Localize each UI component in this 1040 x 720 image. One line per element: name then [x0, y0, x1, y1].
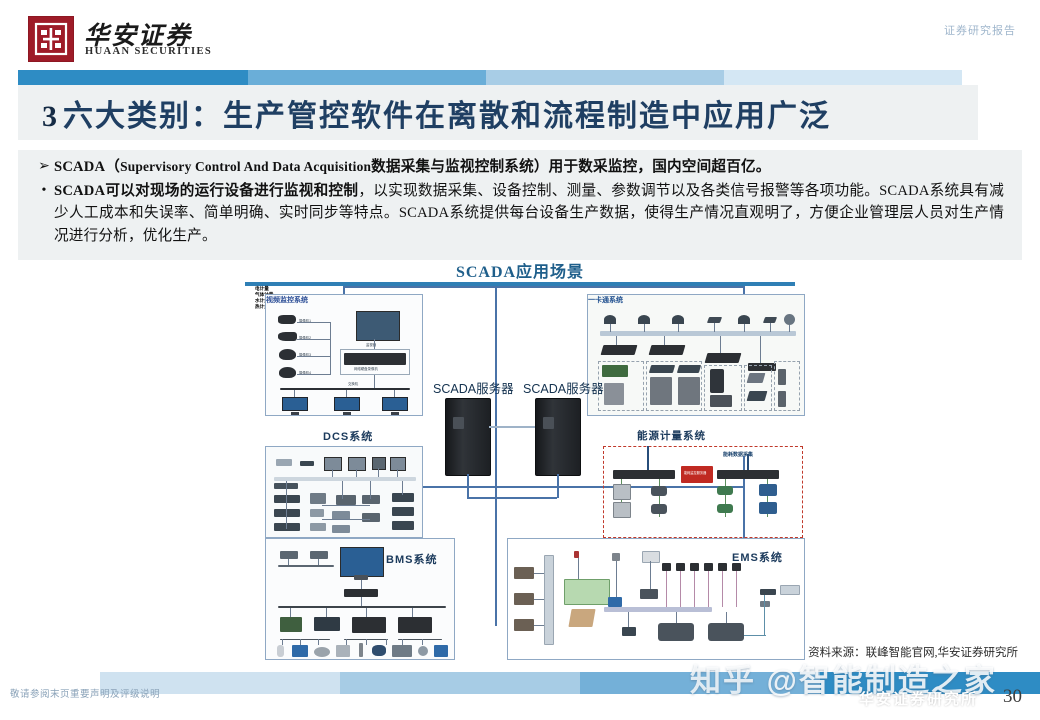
node-bms-system: BMS系统	[265, 538, 455, 660]
node-dcs-system	[265, 446, 423, 538]
footer-band-2	[340, 672, 580, 694]
node-energy-title: 能源计量系统	[637, 428, 706, 443]
node-card-system: 一卡通系统	[587, 294, 805, 416]
title-label: 六大类别：生产管控软件在离散和流程制造中应用广泛	[63, 100, 831, 133]
energy-concentrator-2	[717, 470, 779, 479]
connector-server-join	[467, 497, 557, 499]
footer-disclaimer: 敬请参阅末页重要声明及评级说明	[10, 686, 160, 700]
dome-camera-icon-3	[279, 349, 296, 360]
bullet-marker-1: ➢	[34, 156, 54, 179]
connector-server-link	[489, 426, 535, 428]
bullet1-post: 数据采集与监视控制系统）用于数采监控，国内空间超百亿。	[371, 159, 770, 175]
bullet-text-2: SCADA可以对现场的运行设备进行监视和控制，以实现数据采集、设备控制、测量、参…	[54, 180, 1004, 248]
bullet-text-1: SCADA（Supervisory Control And Data Acqui…	[54, 156, 1004, 179]
node-dcs-title: DCS系统	[323, 428, 373, 444]
workstation-icon-2	[334, 397, 360, 415]
node-card-title: 一卡通系统	[588, 295, 804, 305]
node-video-surveillance: 视频监控系统 摄像机1 摄像机2 摄像机3 摄像机4 监视器 网络硬盘录像机 交…	[265, 294, 423, 416]
server-label-left: SCADA服务器	[433, 378, 514, 397]
bullet1-latin: Supervisory Control And Data Acquisition	[120, 159, 371, 174]
figure-caption: SCADA应用场景	[0, 258, 1040, 282]
footer-organization: 华安证券研究所	[859, 688, 978, 709]
server-label-right: SCADA服务器	[523, 378, 604, 397]
card-reader-icon-3	[705, 353, 742, 363]
workstation-icon-1	[282, 397, 308, 415]
camera-icon-2	[278, 332, 297, 341]
energy-concentrator-1	[613, 470, 675, 479]
slide-title-bar: 3六大类别：生产管控软件在离散和流程制造中应用广泛	[18, 85, 978, 140]
title-number: 3	[42, 100, 59, 133]
bms-monitor-icon	[340, 547, 384, 577]
bullet-marker-2: •	[34, 180, 54, 248]
camera-icon-1	[278, 315, 296, 324]
bullet-item-2: • SCADA可以对现场的运行设备进行监视和控制，以实现数据采集、设备控制、测量…	[18, 180, 1022, 248]
recorder-label: 网络硬盘录像机	[354, 366, 378, 371]
huaan-logo-icon	[28, 16, 74, 62]
video-wall-monitor-icon	[356, 311, 400, 341]
scada-server-tower-right	[535, 398, 581, 476]
bullet-item-1: ➢ SCADA（Supervisory Control And Data Acq…	[18, 156, 1022, 179]
scada-architecture-diagram: 视频监控系统 摄像机1 摄像机2 摄像机3 摄像机4 监视器 网络硬盘录像机 交…	[255, 286, 815, 666]
connector-server-left-down	[467, 474, 469, 498]
video-switch-bus	[280, 388, 410, 390]
connector-spine-vertical	[495, 286, 497, 626]
brand-name-en: HUAAN SECURITIES	[85, 46, 212, 57]
body-text-block: ➢ SCADA（Supervisory Control And Data Acq…	[18, 150, 1022, 260]
bms-controller-icon-2	[398, 617, 432, 633]
energy-controller-label: 能耗监控服务器	[684, 470, 706, 475]
bullet1-pre: SCADA（	[54, 159, 120, 175]
node-bms-title: BMS系统	[386, 551, 437, 567]
node-ems-system: EMS系统	[507, 538, 805, 660]
slide-root: 华安证券 HUAAN SECURITIES 证券研究报告 3六大类别：生产管控软…	[0, 0, 1040, 720]
card-reader-icon-2	[649, 345, 686, 355]
source-attribution: 资料来源：联峰智能官网,华安证券研究所	[808, 644, 1018, 660]
scada-server-tower-left	[445, 398, 491, 476]
page-number: 30	[1003, 686, 1022, 708]
switch-label: 交换机	[348, 381, 358, 386]
workstation-icon-3	[382, 397, 408, 415]
bms-controller-icon-1	[352, 617, 386, 633]
bullet2-strong: SCADA可以对现场的运行设备进行监视和控制	[54, 183, 358, 199]
page-title: 3六大类别：生产管控软件在离散和流程制造中应用广泛	[42, 91, 831, 135]
card-backbone-bus	[600, 331, 796, 336]
card-reader-icon-1	[601, 345, 638, 355]
report-type-note: 证券研究报告	[944, 22, 1016, 38]
bms-gateway-icon	[344, 589, 378, 597]
dome-camera-icon-4	[279, 367, 296, 378]
node-video-title: 视频监控系统	[266, 295, 422, 305]
connector-top-horizontal	[343, 286, 743, 288]
connector-server-spine	[495, 497, 497, 541]
brand-header: 华安证券 HUAAN SECURITIES 证券研究报告	[0, 0, 1040, 70]
footer-band-3	[580, 672, 820, 694]
connector-server-right-down	[557, 474, 559, 498]
